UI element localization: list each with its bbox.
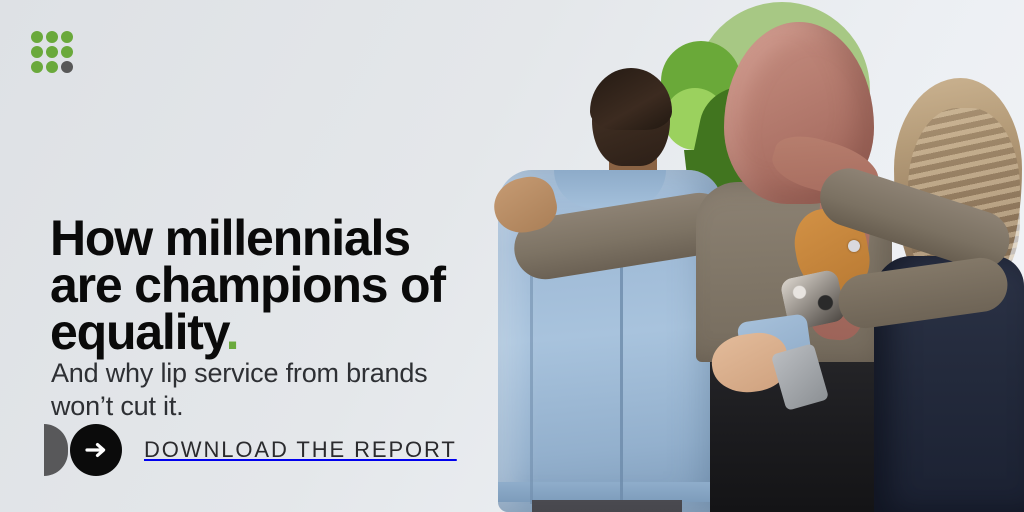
brand-logo[interactable] [31,31,73,73]
headline-line-2: are champions of [50,262,520,309]
logo-dot-5 [46,46,58,58]
hero-photo [470,0,1024,512]
page-title: How millennials are champions of equalit… [50,215,520,356]
subtitle: And why lip service from brands won’t cu… [51,357,521,423]
download-the-report-button[interactable]: DOWNLOAD THE REPORT [44,424,457,476]
dark-jeans [532,500,682,512]
cta-label: DOWNLOAD THE REPORT [144,437,457,463]
logo-dot-4 [31,46,43,58]
arrow-circle-o-mark [70,424,122,476]
short-hair [590,68,672,130]
logo-dot-2 [46,31,58,43]
logo-dot-9 [61,61,73,73]
logo-dot-3 [61,31,73,43]
logo-dot-7 [31,61,43,73]
logo-dot-1 [31,31,43,43]
person-right [868,78,1024,512]
logo-dot-6 [61,46,73,58]
ring [848,240,860,252]
arrow-right-icon [82,436,110,464]
logo-dot-8 [46,61,58,73]
promo-banner: How millennials are champions of equalit… [0,0,1024,512]
headline-accent-period: . [226,304,239,360]
subtitle-line-2: won’t cut it. [51,390,521,423]
headline-line-1: How millennials [50,215,520,262]
half-disc-d-mark-icon [44,424,68,476]
headline-line-3-text: equality [50,304,226,360]
subtitle-line-1: And why lip service from brands [51,357,521,390]
headline-line-3: equality. [50,309,520,356]
